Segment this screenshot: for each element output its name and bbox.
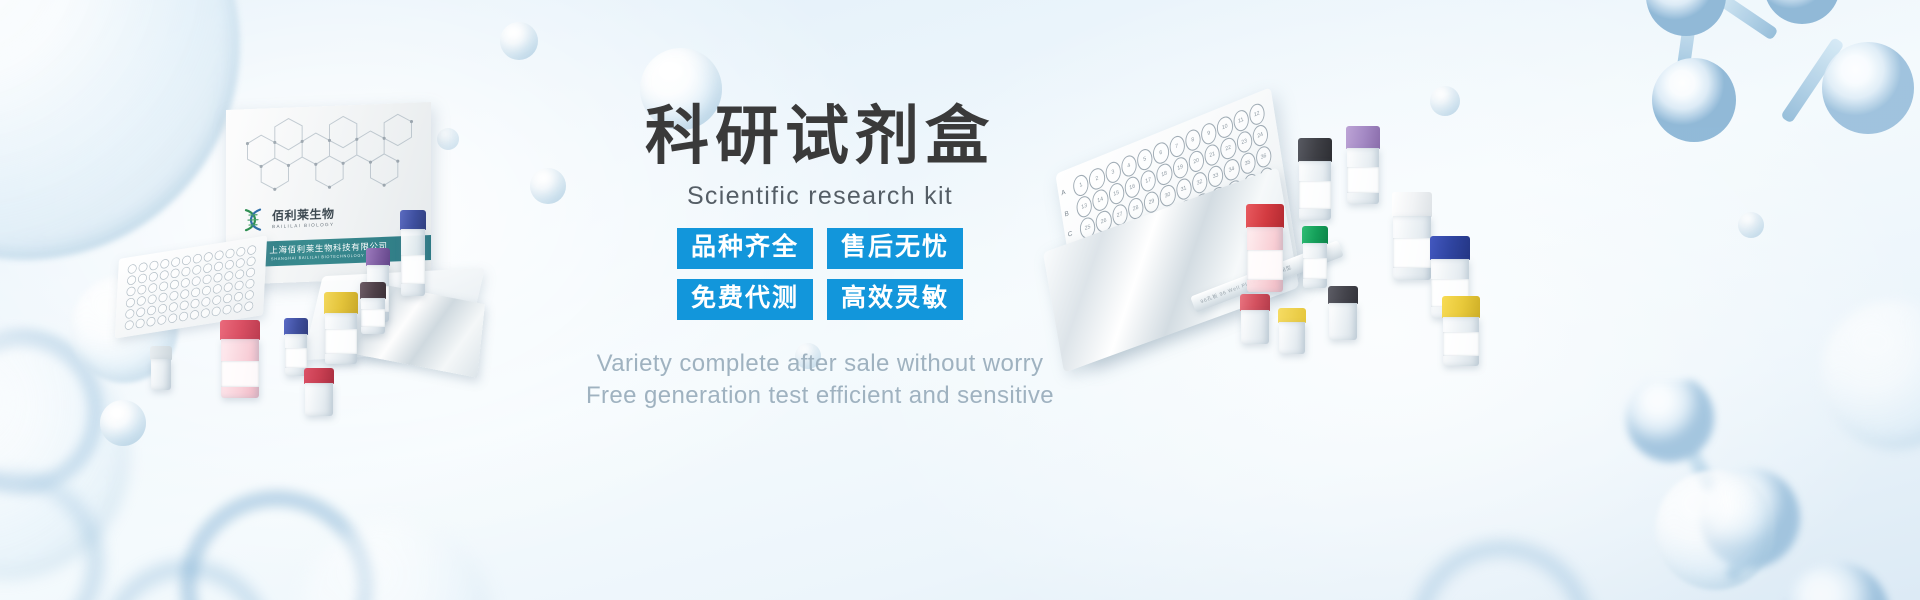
brand-logo: 佰利莱生物 BAILILAI BIOLOGY bbox=[240, 204, 335, 234]
hexagon-chain-icon bbox=[0, 330, 104, 494]
microplate-well: 6 bbox=[1152, 140, 1170, 166]
microplate-well: 4 bbox=[1120, 153, 1138, 179]
microplate-well: 11 bbox=[1232, 108, 1250, 134]
brand-name-en: BAILILAI BIOLOGY bbox=[272, 221, 335, 228]
tagline-line-1: Variety complete after sale without worr… bbox=[540, 348, 1100, 380]
reagent-vial bbox=[1328, 286, 1358, 340]
tagline-line-2: Free generation test efficient and sensi… bbox=[540, 380, 1100, 412]
reagent-vial bbox=[1240, 294, 1270, 344]
microplate-well: 5 bbox=[1136, 146, 1154, 172]
microplate-well: 3 bbox=[1104, 159, 1122, 185]
reagent-vial bbox=[1392, 192, 1432, 280]
reagent-vial bbox=[1298, 138, 1332, 220]
water-bubble-icon bbox=[100, 400, 146, 446]
reagent-vial bbox=[284, 318, 308, 376]
water-bubble-icon bbox=[1820, 300, 1920, 450]
molecule-sphere-bond-icon bbox=[1600, 380, 1900, 600]
microplate-well: 32 bbox=[1190, 169, 1208, 195]
product-photo-right: ABCDEFGH 1234567891011121314151617181920… bbox=[1040, 118, 1510, 388]
microplate-well: 12 bbox=[1248, 101, 1266, 127]
molecule-sphere-bond-icon bbox=[1620, 0, 1920, 290]
hexagon-chain-icon bbox=[0, 470, 104, 600]
hexagon-chain-icon bbox=[180, 490, 374, 600]
microplate-well: 16 bbox=[1123, 174, 1141, 200]
feature-badge-variety[interactable]: 品种齐全 bbox=[677, 228, 813, 269]
hexagon-chain-icon bbox=[1410, 540, 1594, 600]
microplate-well: 21 bbox=[1203, 142, 1221, 168]
microplate-well: 14 bbox=[1091, 187, 1109, 213]
microplate-well: 35 bbox=[1238, 150, 1256, 176]
water-bubble-icon bbox=[1738, 212, 1764, 238]
microplate-well: 36 bbox=[1254, 143, 1272, 169]
feature-badge-aftersale[interactable]: 售后无忧 bbox=[827, 228, 963, 269]
microplate-well: 8 bbox=[1184, 127, 1202, 153]
microplate-well: 7 bbox=[1168, 133, 1186, 159]
microplate-well: 24 bbox=[1251, 122, 1269, 148]
microplate-well: 20 bbox=[1187, 148, 1205, 174]
reagent-vial bbox=[400, 210, 426, 296]
microplate-well: 22 bbox=[1219, 135, 1237, 161]
microplate-well: 15 bbox=[1107, 180, 1125, 206]
product-banner: 佰利莱生物 BAILILAI BIOLOGY 上海佰利莱生物科技有限公司 SHA… bbox=[0, 0, 1920, 600]
feature-badge-list: 品种齐全 售后无忧 免费代测 高效灵敏 bbox=[665, 228, 975, 320]
reagent-vial bbox=[324, 292, 358, 364]
banner-subtitle: Scientific research kit bbox=[560, 182, 1080, 211]
microplate-well: 34 bbox=[1222, 156, 1240, 182]
reagent-vial bbox=[1302, 226, 1328, 288]
microplate-well: 17 bbox=[1139, 168, 1157, 194]
reagent-vial bbox=[1346, 126, 1380, 204]
microplate-well: 10 bbox=[1216, 114, 1234, 140]
feature-badge-sensitive[interactable]: 高效灵敏 bbox=[827, 279, 963, 320]
water-bubble-icon bbox=[1655, 470, 1775, 590]
reagent-vial bbox=[1278, 308, 1306, 354]
reagent-vial bbox=[360, 282, 386, 334]
microplate-well: 2 bbox=[1088, 166, 1106, 192]
reagent-vial bbox=[1246, 204, 1284, 292]
brand-name-cn: 佰利莱生物 bbox=[272, 207, 335, 221]
banner-tagline: Variety complete after sale without worr… bbox=[540, 348, 1100, 411]
hexagon-molecule-pattern-icon bbox=[226, 106, 431, 210]
microplate-well: 19 bbox=[1171, 155, 1189, 181]
reagent-vial bbox=[1442, 296, 1480, 366]
microplate-well: 33 bbox=[1206, 163, 1224, 189]
microplate-well: 18 bbox=[1155, 161, 1173, 187]
product-photo-left: 佰利莱生物 BAILILAI BIOLOGY 上海佰利莱生物科技有限公司 SHA… bbox=[108, 96, 558, 386]
microplate-well: 9 bbox=[1200, 121, 1218, 147]
reagent-vial bbox=[304, 368, 334, 416]
hexagon-chain-icon bbox=[100, 560, 274, 600]
reagent-vial bbox=[150, 346, 172, 390]
dna-helix-icon bbox=[240, 206, 266, 233]
banner-title: 科研试剂盒 bbox=[560, 104, 1080, 168]
water-bubble-icon bbox=[1430, 86, 1460, 116]
water-bubble-icon bbox=[500, 22, 538, 60]
reagent-vial bbox=[220, 320, 260, 398]
water-bubble-icon bbox=[300, 520, 490, 600]
banner-copy: 科研试剂盒 Scientific research kit 品种齐全 售后无忧 … bbox=[560, 0, 1080, 600]
feature-badge-freetest[interactable]: 免费代测 bbox=[677, 279, 813, 320]
microplate-well: 23 bbox=[1235, 129, 1253, 155]
